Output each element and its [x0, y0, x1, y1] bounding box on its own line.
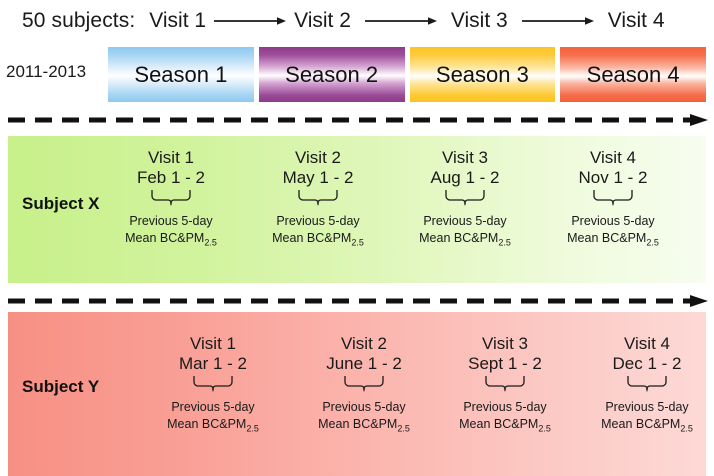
visit-date: Sept 1 - 2 [430, 354, 580, 374]
season-strip: Season 1 Season 2 Season 3 Season 4 [108, 47, 706, 102]
subject-y-visit-4: Visit 4 Dec 1 - 2 Previous 5-day Mean BC… [572, 334, 714, 435]
exposure-line-2: Mean BC&PM [459, 417, 538, 431]
exposure-line-1: Previous 5-day [571, 214, 654, 228]
exposure-line-2: Mean BC&PM [567, 231, 646, 245]
down-brace-icon [243, 190, 393, 206]
subject-x-visit-2: Visit 2 May 1 - 2 Previous 5-day Mean BC… [243, 148, 393, 249]
right-arrow-icon [522, 11, 594, 32]
subject-x-visit-1: Visit 1 Feb 1 - 2 Previous 5-day Mean BC… [96, 148, 246, 249]
season-box-1: Season 1 [108, 47, 254, 102]
subject-y-visit-2: Visit 2 June 1 - 2 Previous 5-day Mean B… [289, 334, 439, 435]
exposure-window: Previous 5-day Mean BC&PM2.5 [572, 399, 714, 435]
down-brace-icon [96, 190, 246, 206]
subject-y-visit-3: Visit 3 Sept 1 - 2 Previous 5-day Mean B… [430, 334, 580, 435]
exposure-subscript: 2.5 [498, 237, 511, 247]
cohort-visit-3: Visit 3 [451, 9, 508, 33]
visit-date: Dec 1 - 2 [572, 354, 714, 374]
cohort-visit-sequence: 50 subjects: Visit 1 Visit 2 Visit 3 Vis… [0, 0, 714, 42]
subject-panel-x: Subject X Visit 1 Feb 1 - 2 Previous 5-d… [8, 136, 706, 283]
exposure-line-2: Mean BC&PM [601, 417, 680, 431]
down-brace-icon [538, 190, 688, 206]
exposure-line-1: Previous 5-day [322, 400, 405, 414]
exposure-line-1: Previous 5-day [276, 214, 359, 228]
visit-title: Visit 4 [572, 334, 714, 354]
cohort-visit-1: Visit 1 [149, 9, 206, 33]
season-box-2: Season 2 [259, 47, 405, 102]
exposure-subscript: 2.5 [646, 237, 659, 247]
subject-x-visit-4: Visit 4 Nov 1 - 2 Previous 5-day Mean BC… [538, 148, 688, 249]
exposure-line-1: Previous 5-day [463, 400, 546, 414]
visit-title: Visit 4 [538, 148, 688, 168]
exposure-window: Previous 5-day Mean BC&PM2.5 [138, 399, 288, 435]
down-brace-icon [289, 376, 439, 392]
down-brace-icon [138, 376, 288, 392]
exposure-line-2: Mean BC&PM [318, 417, 397, 431]
exposure-line-2: Mean BC&PM [125, 231, 204, 245]
subject-panel-y: Subject Y Visit 1 Mar 1 - 2 Previous 5-d… [8, 312, 706, 476]
subject-x-visit-3: Visit 3 Aug 1 - 2 Previous 5-day Mean BC… [390, 148, 540, 249]
exposure-subscript: 2.5 [397, 423, 410, 433]
dashed-right-arrow-icon [8, 114, 708, 126]
season-box-3: Season 3 [410, 47, 556, 102]
cohort-visit-2: Visit 2 [294, 9, 351, 33]
cohort-size-label: 50 subjects: [22, 9, 135, 33]
subject-x-label: Subject X [22, 194, 99, 214]
dashed-right-arrow-icon [8, 295, 708, 307]
down-brace-icon [430, 376, 580, 392]
cohort-visit-4: Visit 4 [608, 9, 665, 33]
right-arrow-icon [214, 11, 286, 32]
visit-title: Visit 3 [430, 334, 580, 354]
season-box-4: Season 4 [560, 47, 706, 102]
exposure-line-1: Previous 5-day [129, 214, 212, 228]
exposure-window: Previous 5-day Mean BC&PM2.5 [430, 399, 580, 435]
visit-title: Visit 1 [138, 334, 288, 354]
exposure-line-2: Mean BC&PM [419, 231, 498, 245]
exposure-subscript: 2.5 [351, 237, 364, 247]
down-brace-icon [390, 190, 540, 206]
visit-date: Feb 1 - 2 [96, 168, 246, 188]
exposure-subscript: 2.5 [246, 423, 259, 433]
exposure-subscript: 2.5 [204, 237, 217, 247]
exposure-window: Previous 5-day Mean BC&PM2.5 [289, 399, 439, 435]
exposure-window: Previous 5-day Mean BC&PM2.5 [538, 213, 688, 249]
exposure-line-1: Previous 5-day [423, 214, 506, 228]
visit-date: May 1 - 2 [243, 168, 393, 188]
subject-y-visit-1: Visit 1 Mar 1 - 2 Previous 5-day Mean BC… [138, 334, 288, 435]
visit-date: June 1 - 2 [289, 354, 439, 374]
exposure-line-1: Previous 5-day [605, 400, 688, 414]
visit-title: Visit 2 [289, 334, 439, 354]
subject-y-label: Subject Y [22, 377, 99, 397]
exposure-line-2: Mean BC&PM [272, 231, 351, 245]
visit-date: Mar 1 - 2 [138, 354, 288, 374]
exposure-window: Previous 5-day Mean BC&PM2.5 [243, 213, 393, 249]
exposure-subscript: 2.5 [538, 423, 551, 433]
visit-title: Visit 1 [96, 148, 246, 168]
exposure-line-2: Mean BC&PM [167, 417, 246, 431]
down-brace-icon [572, 376, 714, 392]
right-arrow-icon [365, 11, 437, 32]
exposure-subscript: 2.5 [680, 423, 693, 433]
study-year-range: 2011-2013 [6, 62, 86, 82]
visit-date: Nov 1 - 2 [538, 168, 688, 188]
visit-title: Visit 3 [390, 148, 540, 168]
exposure-window: Previous 5-day Mean BC&PM2.5 [96, 213, 246, 249]
visit-date: Aug 1 - 2 [390, 168, 540, 188]
exposure-window: Previous 5-day Mean BC&PM2.5 [390, 213, 540, 249]
visit-title: Visit 2 [243, 148, 393, 168]
exposure-line-1: Previous 5-day [171, 400, 254, 414]
